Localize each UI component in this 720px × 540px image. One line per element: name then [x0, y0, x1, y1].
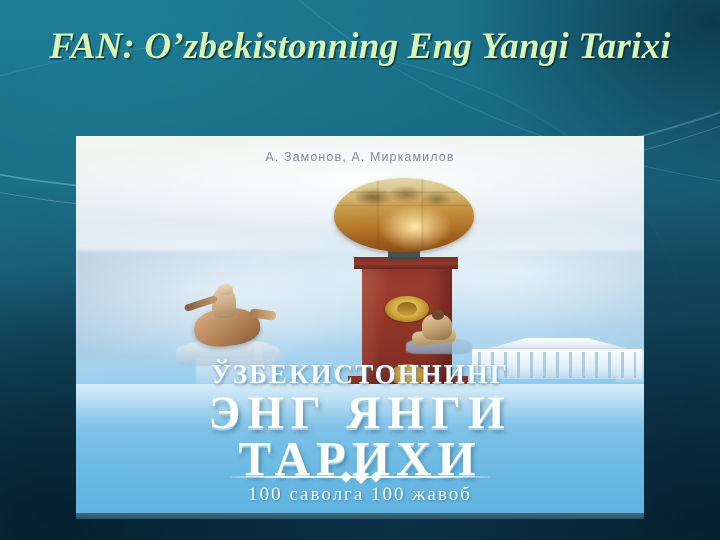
cover-authors: А. Замонов, А. Миркамилов — [76, 150, 644, 164]
cover-horseman-statue — [172, 284, 284, 368]
slide-title: FAN: O’zbekistonning Eng Yangi Tarixi — [0, 27, 720, 66]
cover-subtitle: 100 саволга 100 жавоб — [76, 484, 644, 506]
presentation-slide: FAN: O’zbekistonning Eng Yangi Tarixi А.… — [0, 0, 720, 540]
book-cover-image: А. Замонов, А. Миркамилов — [76, 136, 644, 519]
cover-rider-head — [218, 284, 233, 295]
cover-monument-globe — [334, 178, 474, 252]
cover-seated-head — [432, 310, 444, 320]
cover-globe-continents — [356, 186, 452, 208]
cover-divider-diamond-left — [340, 471, 351, 482]
cover-bottom-edge — [76, 513, 644, 519]
cover-seated-statue — [410, 312, 470, 354]
cover-divider-ornament — [230, 473, 490, 481]
cover-divider-diamond-right — [370, 471, 381, 482]
